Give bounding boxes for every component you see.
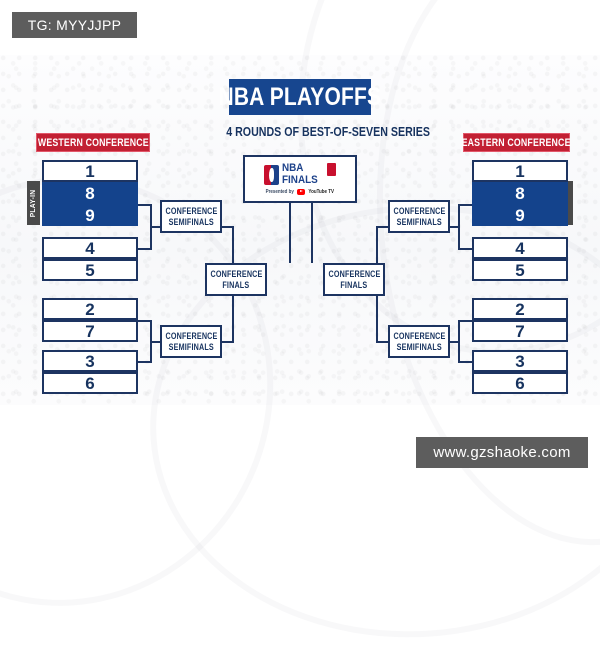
connector — [458, 248, 472, 250]
seed-box-west-4[interactable]: 4 — [42, 237, 138, 259]
east-conference-semifinals-top[interactable]: CONFERENCE SEMIFINALS — [388, 200, 450, 233]
seed-box-west-1[interactable]: 1 — [42, 160, 138, 182]
round-label-line1: CONFERENCE — [328, 269, 380, 279]
seed-box-west-2[interactable]: 2 — [42, 298, 138, 320]
east-conference-finals[interactable]: CONFERENCE FINALS — [323, 263, 385, 296]
page-title-box: NBA PLAYOFFS — [229, 79, 371, 115]
seed-label: 6 — [85, 375, 94, 392]
seed-label: 8 — [85, 185, 94, 202]
seed-box-west-9[interactable]: 9 — [42, 204, 138, 226]
western-conference-label: WESTERN CONFERENCE — [38, 137, 149, 149]
eastern-conference-banner: EASTERN CONFERENCE — [463, 133, 570, 152]
seed-label: 5 — [515, 262, 524, 279]
round-label-line2: FINALS — [341, 280, 368, 290]
nba-logo-icon — [264, 165, 279, 185]
seed-label: 9 — [515, 207, 524, 224]
west-conference-semifinals-top[interactable]: CONFERENCE SEMIFINALS — [160, 200, 222, 233]
page-title: NBA PLAYOFFS — [219, 83, 382, 112]
round-label-line2: FINALS — [223, 280, 250, 290]
round-label-line2: SEMIFINALS — [396, 217, 441, 227]
connector — [458, 320, 472, 322]
round-label-line1: CONFERENCE — [210, 269, 262, 279]
seed-box-east-6[interactable]: 6 — [472, 372, 568, 394]
seed-label: 5 — [85, 262, 94, 279]
nba-finals-accent-block — [327, 163, 336, 176]
nba-finals-logo: NBA FINALS — [264, 163, 336, 185]
connector — [458, 361, 472, 363]
seed-box-east-2[interactable]: 2 — [472, 298, 568, 320]
west-conference-finals[interactable]: CONFERENCE FINALS — [205, 263, 267, 296]
seed-box-east-9[interactable]: 9 — [472, 204, 568, 226]
connector — [289, 203, 291, 263]
seed-label: 3 — [85, 353, 94, 370]
connector — [449, 341, 460, 343]
west-conference-semifinals-bottom[interactable]: CONFERENCE SEMIFINALS — [160, 325, 222, 358]
seed-label: 1 — [85, 163, 94, 180]
seed-box-west-5[interactable]: 5 — [42, 259, 138, 281]
connector — [458, 204, 472, 206]
seed-label: 3 — [515, 353, 524, 370]
youtube-tv-label: YouTube TV — [309, 189, 335, 195]
seed-label: 8 — [515, 185, 524, 202]
seed-box-west-6[interactable]: 6 — [42, 372, 138, 394]
youtube-play-icon — [297, 189, 305, 195]
round-label-line2: SEMIFINALS — [168, 342, 213, 352]
seed-label: 4 — [515, 240, 524, 257]
presented-by-row: Presented by YouTube TV — [264, 189, 336, 195]
seed-box-east-4[interactable]: 4 — [472, 237, 568, 259]
watermark-bottom-right: www.gzshaoke.com — [416, 437, 588, 468]
seed-box-west-3[interactable]: 3 — [42, 350, 138, 372]
connector — [150, 341, 160, 343]
playin-tab-west: PLAY-IN — [27, 181, 40, 225]
round-label-line1: CONFERENCE — [393, 331, 445, 341]
eastern-conference-label: EASTERN CONFERENCE — [462, 137, 571, 149]
round-label-line1: CONFERENCE — [393, 206, 445, 216]
seed-box-east-5[interactable]: 5 — [472, 259, 568, 281]
playin-tab-west-label: PLAY-IN — [30, 189, 37, 217]
seed-label: 2 — [515, 301, 524, 318]
nba-finals-wordmark: NBA FINALS — [282, 163, 322, 185]
round-label-line1: CONFERENCE — [165, 331, 217, 341]
round-label-line2: SEMIFINALS — [168, 217, 213, 227]
seed-box-west-8[interactable]: 8 — [42, 182, 138, 204]
seed-label: 1 — [515, 163, 524, 180]
seed-label: 7 — [515, 323, 524, 340]
connector — [311, 203, 313, 263]
seed-box-east-3[interactable]: 3 — [472, 350, 568, 372]
nba-finals-wordmark-line2: FINALS — [282, 175, 318, 186]
connector — [449, 226, 460, 228]
page-subtitle: 4 ROUNDS OF BEST-OF-SEVEN SERIES — [226, 124, 374, 139]
seed-label: 2 — [85, 301, 94, 318]
seed-label: 6 — [515, 375, 524, 392]
watermark-top-left: TG: MYYJJPP — [12, 12, 137, 38]
seed-box-west-7[interactable]: 7 — [42, 320, 138, 342]
presented-by-label: Presented by — [266, 189, 294, 195]
nba-finals-box[interactable]: NBA FINALS Presented by YouTube TV — [243, 155, 357, 203]
seed-box-east-7[interactable]: 7 — [472, 320, 568, 342]
round-label-line1: CONFERENCE — [165, 206, 217, 216]
seed-label: 7 — [85, 323, 94, 340]
seed-label: 4 — [85, 240, 94, 257]
seed-box-east-1[interactable]: 1 — [472, 160, 568, 182]
seed-box-east-8[interactable]: 8 — [472, 182, 568, 204]
seed-label: 9 — [85, 207, 94, 224]
western-conference-banner: WESTERN CONFERENCE — [36, 133, 150, 152]
round-label-line2: SEMIFINALS — [396, 342, 441, 352]
connector — [150, 226, 160, 228]
east-conference-semifinals-bottom[interactable]: CONFERENCE SEMIFINALS — [388, 325, 450, 358]
